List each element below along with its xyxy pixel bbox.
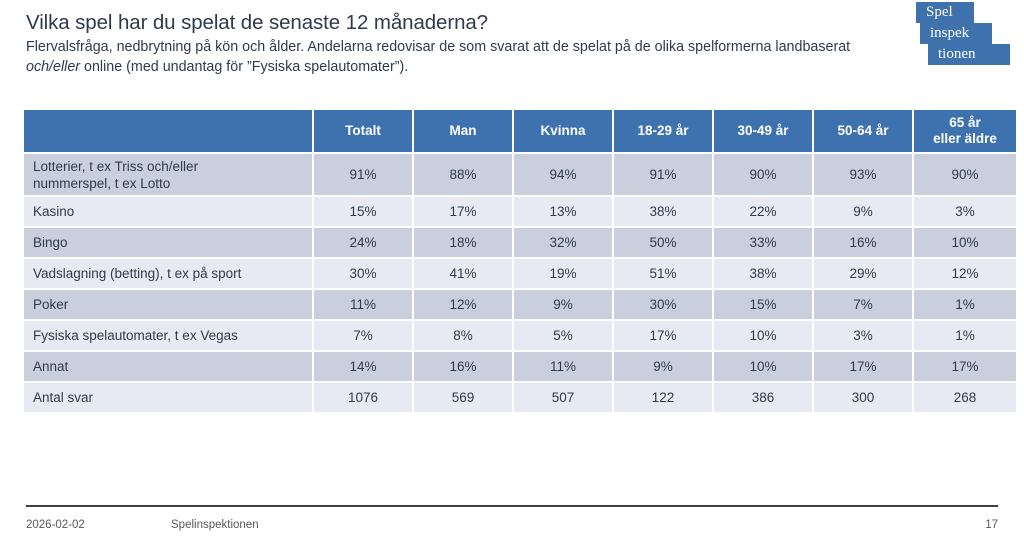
page-title: Vilka spel har du spelat de senaste 12 m…	[26, 10, 886, 36]
cell-age-18-29: 91%	[614, 154, 714, 197]
cell-age-50-64: 300	[814, 383, 914, 412]
table-row: Kasino 15% 17% 13% 38% 22% 9% 3%	[24, 197, 1016, 228]
table-header: Totalt Man Kvinna 18-29 år 30-49 år 50-6…	[24, 110, 1016, 154]
cell-kvinna: 94%	[514, 154, 614, 197]
cell-age-30-49: 22%	[714, 197, 814, 228]
cell-man: 88%	[414, 154, 514, 197]
cell-age-65-plus: 10%	[914, 228, 1016, 259]
row-label: Poker	[24, 290, 314, 321]
cell-age-50-64: 7%	[814, 290, 914, 321]
table-row: Annat 14% 16% 11% 9% 10% 17% 17%	[24, 352, 1016, 383]
cell-age-30-49: 10%	[714, 352, 814, 383]
cell-age-65-plus: 1%	[914, 321, 1016, 352]
cell-age-18-29: 9%	[614, 352, 714, 383]
table-row: Lotterier, t ex Triss och/ellernummerspe…	[24, 154, 1016, 197]
cell-totalt: 1076	[314, 383, 414, 412]
column-header-age-65-plus-line1: 65 år	[949, 115, 981, 130]
cell-age-65-plus: 17%	[914, 352, 1016, 383]
column-header-age-18-29: 18-29 år	[614, 110, 714, 154]
cell-man: 17%	[414, 197, 514, 228]
cell-age-50-64: 93%	[814, 154, 914, 197]
cell-man: 41%	[414, 259, 514, 290]
row-label: Annat	[24, 352, 314, 383]
column-header-kvinna: Kvinna	[514, 110, 614, 154]
results-table: Totalt Man Kvinna 18-29 år 30-49 år 50-6…	[24, 110, 1016, 412]
table-header-row: Totalt Man Kvinna 18-29 år 30-49 år 50-6…	[24, 110, 1016, 154]
subtitle-text-italic: och/eller	[26, 59, 80, 75]
table-row: Poker 11% 12% 9% 30% 15% 7% 1%	[24, 290, 1016, 321]
table-body: Lotterier, t ex Triss och/ellernummerspe…	[24, 154, 1016, 412]
cell-age-30-49: 386	[714, 383, 814, 412]
column-header-age-65-plus: 65 åreller äldre	[914, 110, 1016, 154]
table-row: Fysiska spelautomater, t ex Vegas 7% 8% …	[24, 321, 1016, 352]
row-label-line1: Lotterier, t ex Triss och/eller	[33, 159, 198, 174]
row-label: Bingo	[24, 228, 314, 259]
column-header-age-50-64: 50-64 år	[814, 110, 914, 154]
footer-organization: Spelinspektionen	[171, 519, 259, 531]
cell-age-30-49: 15%	[714, 290, 814, 321]
subtitle-text-part2: online (med undantag för ”Fysiska spelau…	[80, 59, 408, 75]
spelinspektionen-logo: Spel inspek tionen	[916, 2, 1016, 64]
cell-totalt: 91%	[314, 154, 414, 197]
cell-age-50-64: 9%	[814, 197, 914, 228]
cell-kvinna: 19%	[514, 259, 614, 290]
cell-age-18-29: 51%	[614, 259, 714, 290]
cell-age-30-49: 33%	[714, 228, 814, 259]
cell-age-65-plus: 3%	[914, 197, 1016, 228]
slide-header: Vilka spel har du spelat de senaste 12 m…	[26, 10, 886, 77]
cell-age-18-29: 30%	[614, 290, 714, 321]
cell-kvinna: 11%	[514, 352, 614, 383]
results-table-container: Totalt Man Kvinna 18-29 år 30-49 år 50-6…	[24, 110, 1016, 412]
cell-age-50-64: 29%	[814, 259, 914, 290]
cell-age-18-29: 17%	[614, 321, 714, 352]
table-row: Vadslagning (betting), t ex på sport 30%…	[24, 259, 1016, 290]
cell-man: 18%	[414, 228, 514, 259]
cell-age-50-64: 17%	[814, 352, 914, 383]
cell-kvinna: 32%	[514, 228, 614, 259]
cell-totalt: 24%	[314, 228, 414, 259]
row-label: Kasino	[24, 197, 314, 228]
cell-totalt: 14%	[314, 352, 414, 383]
footer-date: 2026-02-02	[26, 519, 85, 531]
cell-age-18-29: 50%	[614, 228, 714, 259]
cell-kvinna: 9%	[514, 290, 614, 321]
row-label: Lotterier, t ex Triss och/ellernummerspe…	[24, 154, 314, 197]
cell-age-18-29: 38%	[614, 197, 714, 228]
page-subtitle: Flervalsfråga, nedbrytning på kön och ål…	[26, 38, 856, 77]
cell-totalt: 7%	[314, 321, 414, 352]
column-header-man: Man	[414, 110, 514, 154]
row-label-line2: nummerspel, t ex Lotto	[33, 176, 170, 191]
cell-kvinna: 507	[514, 383, 614, 412]
column-header-label	[24, 110, 314, 154]
cell-age-30-49: 90%	[714, 154, 814, 197]
table-row-total: Antal svar 1076 569 507 122 386 300 268	[24, 383, 1016, 412]
cell-age-50-64: 16%	[814, 228, 914, 259]
logo-band-line1: Spel	[916, 2, 974, 23]
row-label: Vadslagning (betting), t ex på sport	[24, 259, 314, 290]
subtitle-text-part1: Flervalsfråga, nedbrytning på kön och ål…	[26, 39, 850, 55]
cell-man: 16%	[414, 352, 514, 383]
cell-age-18-29: 122	[614, 383, 714, 412]
table-row: Bingo 24% 18% 32% 50% 33% 16% 10%	[24, 228, 1016, 259]
logo-band-line2: inspek	[920, 23, 992, 44]
cell-man: 12%	[414, 290, 514, 321]
cell-age-65-plus: 268	[914, 383, 1016, 412]
footer-divider	[26, 505, 998, 507]
row-label: Antal svar	[24, 383, 314, 412]
cell-man: 8%	[414, 321, 514, 352]
cell-man: 569	[414, 383, 514, 412]
column-header-totalt: Totalt	[314, 110, 414, 154]
column-header-age-30-49: 30-49 år	[714, 110, 814, 154]
cell-age-30-49: 38%	[714, 259, 814, 290]
cell-kvinna: 5%	[514, 321, 614, 352]
cell-age-65-plus: 12%	[914, 259, 1016, 290]
row-label: Fysiska spelautomater, t ex Vegas	[24, 321, 314, 352]
cell-totalt: 15%	[314, 197, 414, 228]
cell-age-65-plus: 90%	[914, 154, 1016, 197]
cell-totalt: 30%	[314, 259, 414, 290]
column-header-age-65-plus-line2: eller äldre	[933, 131, 997, 146]
footer-page-number: 17	[985, 519, 998, 531]
cell-age-65-plus: 1%	[914, 290, 1016, 321]
logo-band-line3: tionen	[928, 44, 1010, 65]
cell-kvinna: 13%	[514, 197, 614, 228]
cell-age-30-49: 10%	[714, 321, 814, 352]
cell-totalt: 11%	[314, 290, 414, 321]
cell-age-50-64: 3%	[814, 321, 914, 352]
